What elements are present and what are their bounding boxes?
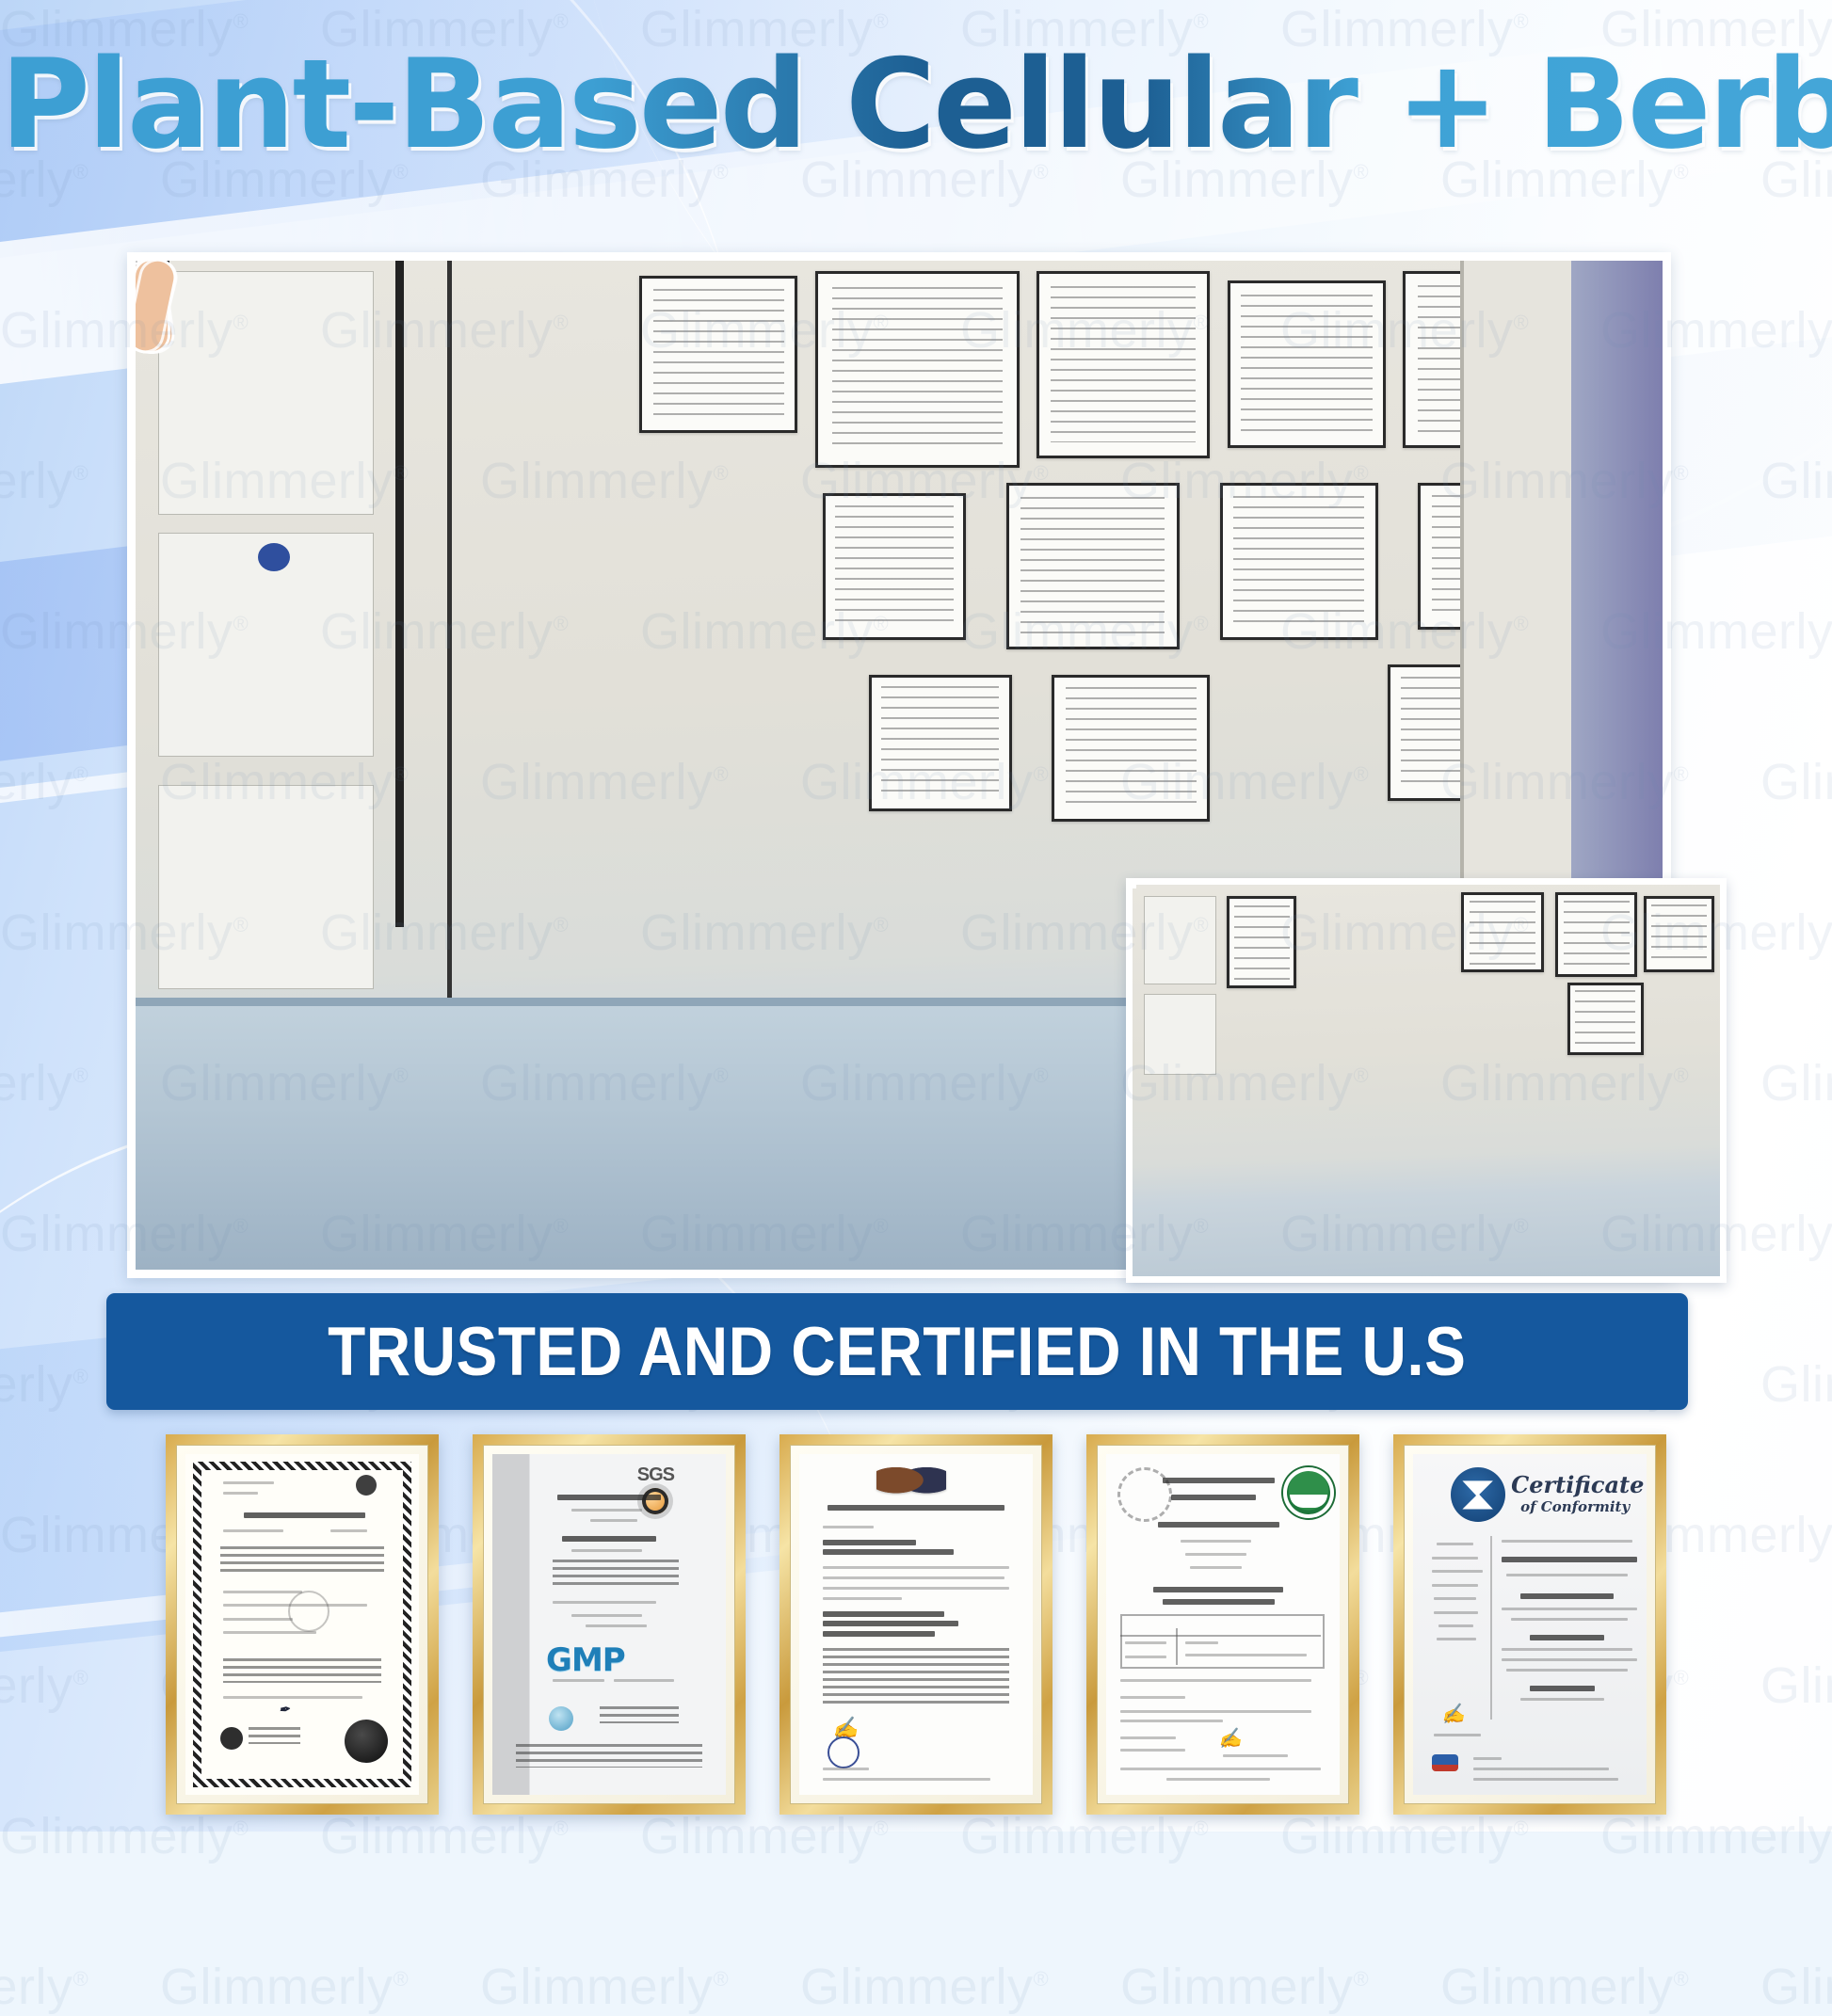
- inset-wall-certificate-4: [1644, 896, 1714, 972]
- inset-wall-certificate-3: [1555, 892, 1637, 976]
- certificate-page: ✍: [799, 1454, 1033, 1795]
- sgs-logo-text: SGS: [637, 1464, 674, 1486]
- wall-certificate-4: [1228, 280, 1386, 448]
- certificate-fda[interactable]: ✍: [779, 1434, 1053, 1815]
- watermark-text: Glimmerly®: [800, 1958, 1049, 2016]
- watermark-text: Glimmerly®: [480, 1958, 729, 2016]
- certificate-mat: Certificate of Conformity: [1404, 1445, 1656, 1804]
- certificate-page: ✍: [1106, 1454, 1340, 1795]
- certificate-mat: ✍: [1097, 1445, 1349, 1804]
- inset-team-photo: [1126, 878, 1727, 1283]
- watermark-globe-icon: [288, 1591, 329, 1632]
- certificate-mat: ✒: [176, 1445, 428, 1804]
- certificate-row: ✒ SGS GMP: [0, 1434, 1832, 1830]
- trusted-certified-banner: TRUSTED AND CERTIFIED IN THE U.S: [106, 1293, 1688, 1410]
- wall-certificate-3: [1037, 271, 1210, 458]
- gmp-logo-text: GMP: [546, 1641, 625, 1679]
- page-title-text: Plant-Based Cellular + Berberine: [0, 41, 1832, 168]
- column-divider: [1490, 1536, 1492, 1720]
- blue-stamp-icon: [828, 1736, 860, 1768]
- wall-certificate-11: [1052, 675, 1210, 822]
- table-divider-h: [1120, 1635, 1321, 1637]
- certificate-nsf[interactable]: Certificate of Conformity: [1393, 1434, 1666, 1815]
- wall-certificate-7: [1006, 483, 1180, 650]
- certificate-page: Certificate of Conformity: [1413, 1454, 1647, 1795]
- inset-wall-certificate-2: [1461, 892, 1543, 972]
- certificate-mat: SGS GMP: [483, 1445, 735, 1804]
- round-stamp-icon: [1117, 1467, 1172, 1522]
- ansi-accreditation-icon: [1432, 1754, 1458, 1771]
- watermark-text: Glimmerly®: [1760, 1958, 1832, 2016]
- watermark-logo-icon: [549, 1706, 573, 1731]
- wall-certificate-2: [815, 271, 1020, 469]
- wall-panel-3: [158, 785, 374, 988]
- certificate-gmp[interactable]: SGS GMP: [473, 1434, 746, 1815]
- certificate-organic[interactable]: ✍: [1086, 1434, 1359, 1815]
- banner-text: TRUSTED AND CERTIFIED IN THE U.S: [328, 1313, 1466, 1391]
- nsf-logo-icon: [1451, 1467, 1505, 1522]
- inset-wall-certificate-1: [1227, 896, 1297, 988]
- page-title: Plant-Based Cellular + Berberine: [0, 41, 1832, 168]
- nsf-certificate-subtitle: of Conformity: [1520, 1498, 1630, 1515]
- door-frame: [1460, 261, 1571, 887]
- table-divider-v: [1176, 1628, 1178, 1666]
- wall-certificate-8: [1220, 483, 1378, 640]
- inset-wall-panel-2: [1144, 994, 1216, 1074]
- watermark-text: Glimmerly®: [0, 1958, 88, 2016]
- wall-certificate-6: [823, 493, 966, 640]
- wall-dot: [258, 543, 290, 571]
- sgs-badge-icon: [642, 1488, 668, 1514]
- usda-organic-icon: [1283, 1467, 1334, 1518]
- inset-wall-panel-1: [1144, 896, 1216, 984]
- certificate-page: SGS GMP: [492, 1454, 726, 1795]
- eagle-emblem-icon: [876, 1461, 946, 1504]
- gold-foil-seal-icon: [345, 1720, 388, 1763]
- certificate-incorporation[interactable]: ✒: [166, 1434, 439, 1815]
- wall-certificate-1: [639, 276, 797, 433]
- inset-team-photo-image: [1133, 885, 1720, 1276]
- certificate-page: ✒: [185, 1454, 419, 1795]
- nsf-certificate-title: Certificate: [1511, 1471, 1644, 1498]
- corner-seal-icon: [356, 1475, 377, 1496]
- inset-wall-certificate-5: [1567, 983, 1644, 1055]
- watermark-text: Glimmerly®: [1440, 1958, 1689, 2016]
- watermark-text: Glimmerly®: [1120, 1958, 1369, 2016]
- wall-edge-1: [395, 261, 404, 927]
- wall-panel-1: [158, 271, 374, 515]
- certificate-mat: ✍: [790, 1445, 1042, 1804]
- stamp-seal-icon: [220, 1727, 243, 1750]
- watermark-text: Glimmerly®: [160, 1958, 409, 2016]
- wall-certificate-10: [869, 675, 1012, 811]
